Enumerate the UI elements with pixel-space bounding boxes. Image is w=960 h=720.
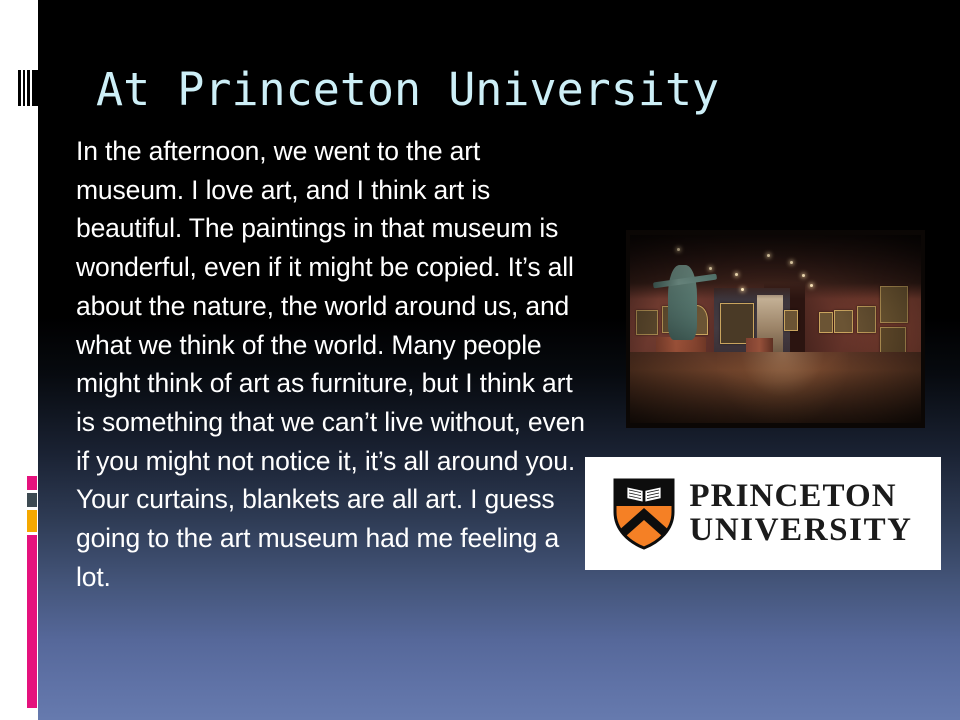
princeton-wordmark-line1: PRINCETON	[689, 480, 896, 514]
chip-orange	[27, 510, 37, 532]
color-chips-decoration	[27, 476, 37, 708]
princeton-logo-card: PRINCETON UNIVERSITY	[585, 457, 941, 570]
museum-photo	[626, 230, 925, 428]
body-paragraph: In the afternoon, we went to the art mus…	[76, 132, 586, 596]
barcode-decoration-icon	[18, 70, 38, 106]
chip-magenta	[27, 476, 37, 490]
museum-photo-frame	[630, 235, 921, 423]
barcode-bar	[18, 70, 21, 106]
chip-gray	[27, 493, 37, 507]
barcode-bar	[32, 70, 38, 106]
princeton-shield-icon	[613, 478, 675, 550]
barcode-bar	[27, 70, 30, 106]
chip-magenta-bar	[27, 535, 37, 708]
page-title: At Princeton University	[96, 62, 836, 118]
slide: At Princeton University In the afternoon…	[0, 0, 960, 720]
princeton-wordmark: PRINCETON UNIVERSITY	[689, 480, 912, 547]
slide-canvas: At Princeton University In the afternoon…	[38, 0, 960, 720]
photo-vignette	[630, 235, 921, 423]
princeton-wordmark-line2: UNIVERSITY	[689, 514, 912, 548]
barcode-bar	[23, 70, 25, 106]
